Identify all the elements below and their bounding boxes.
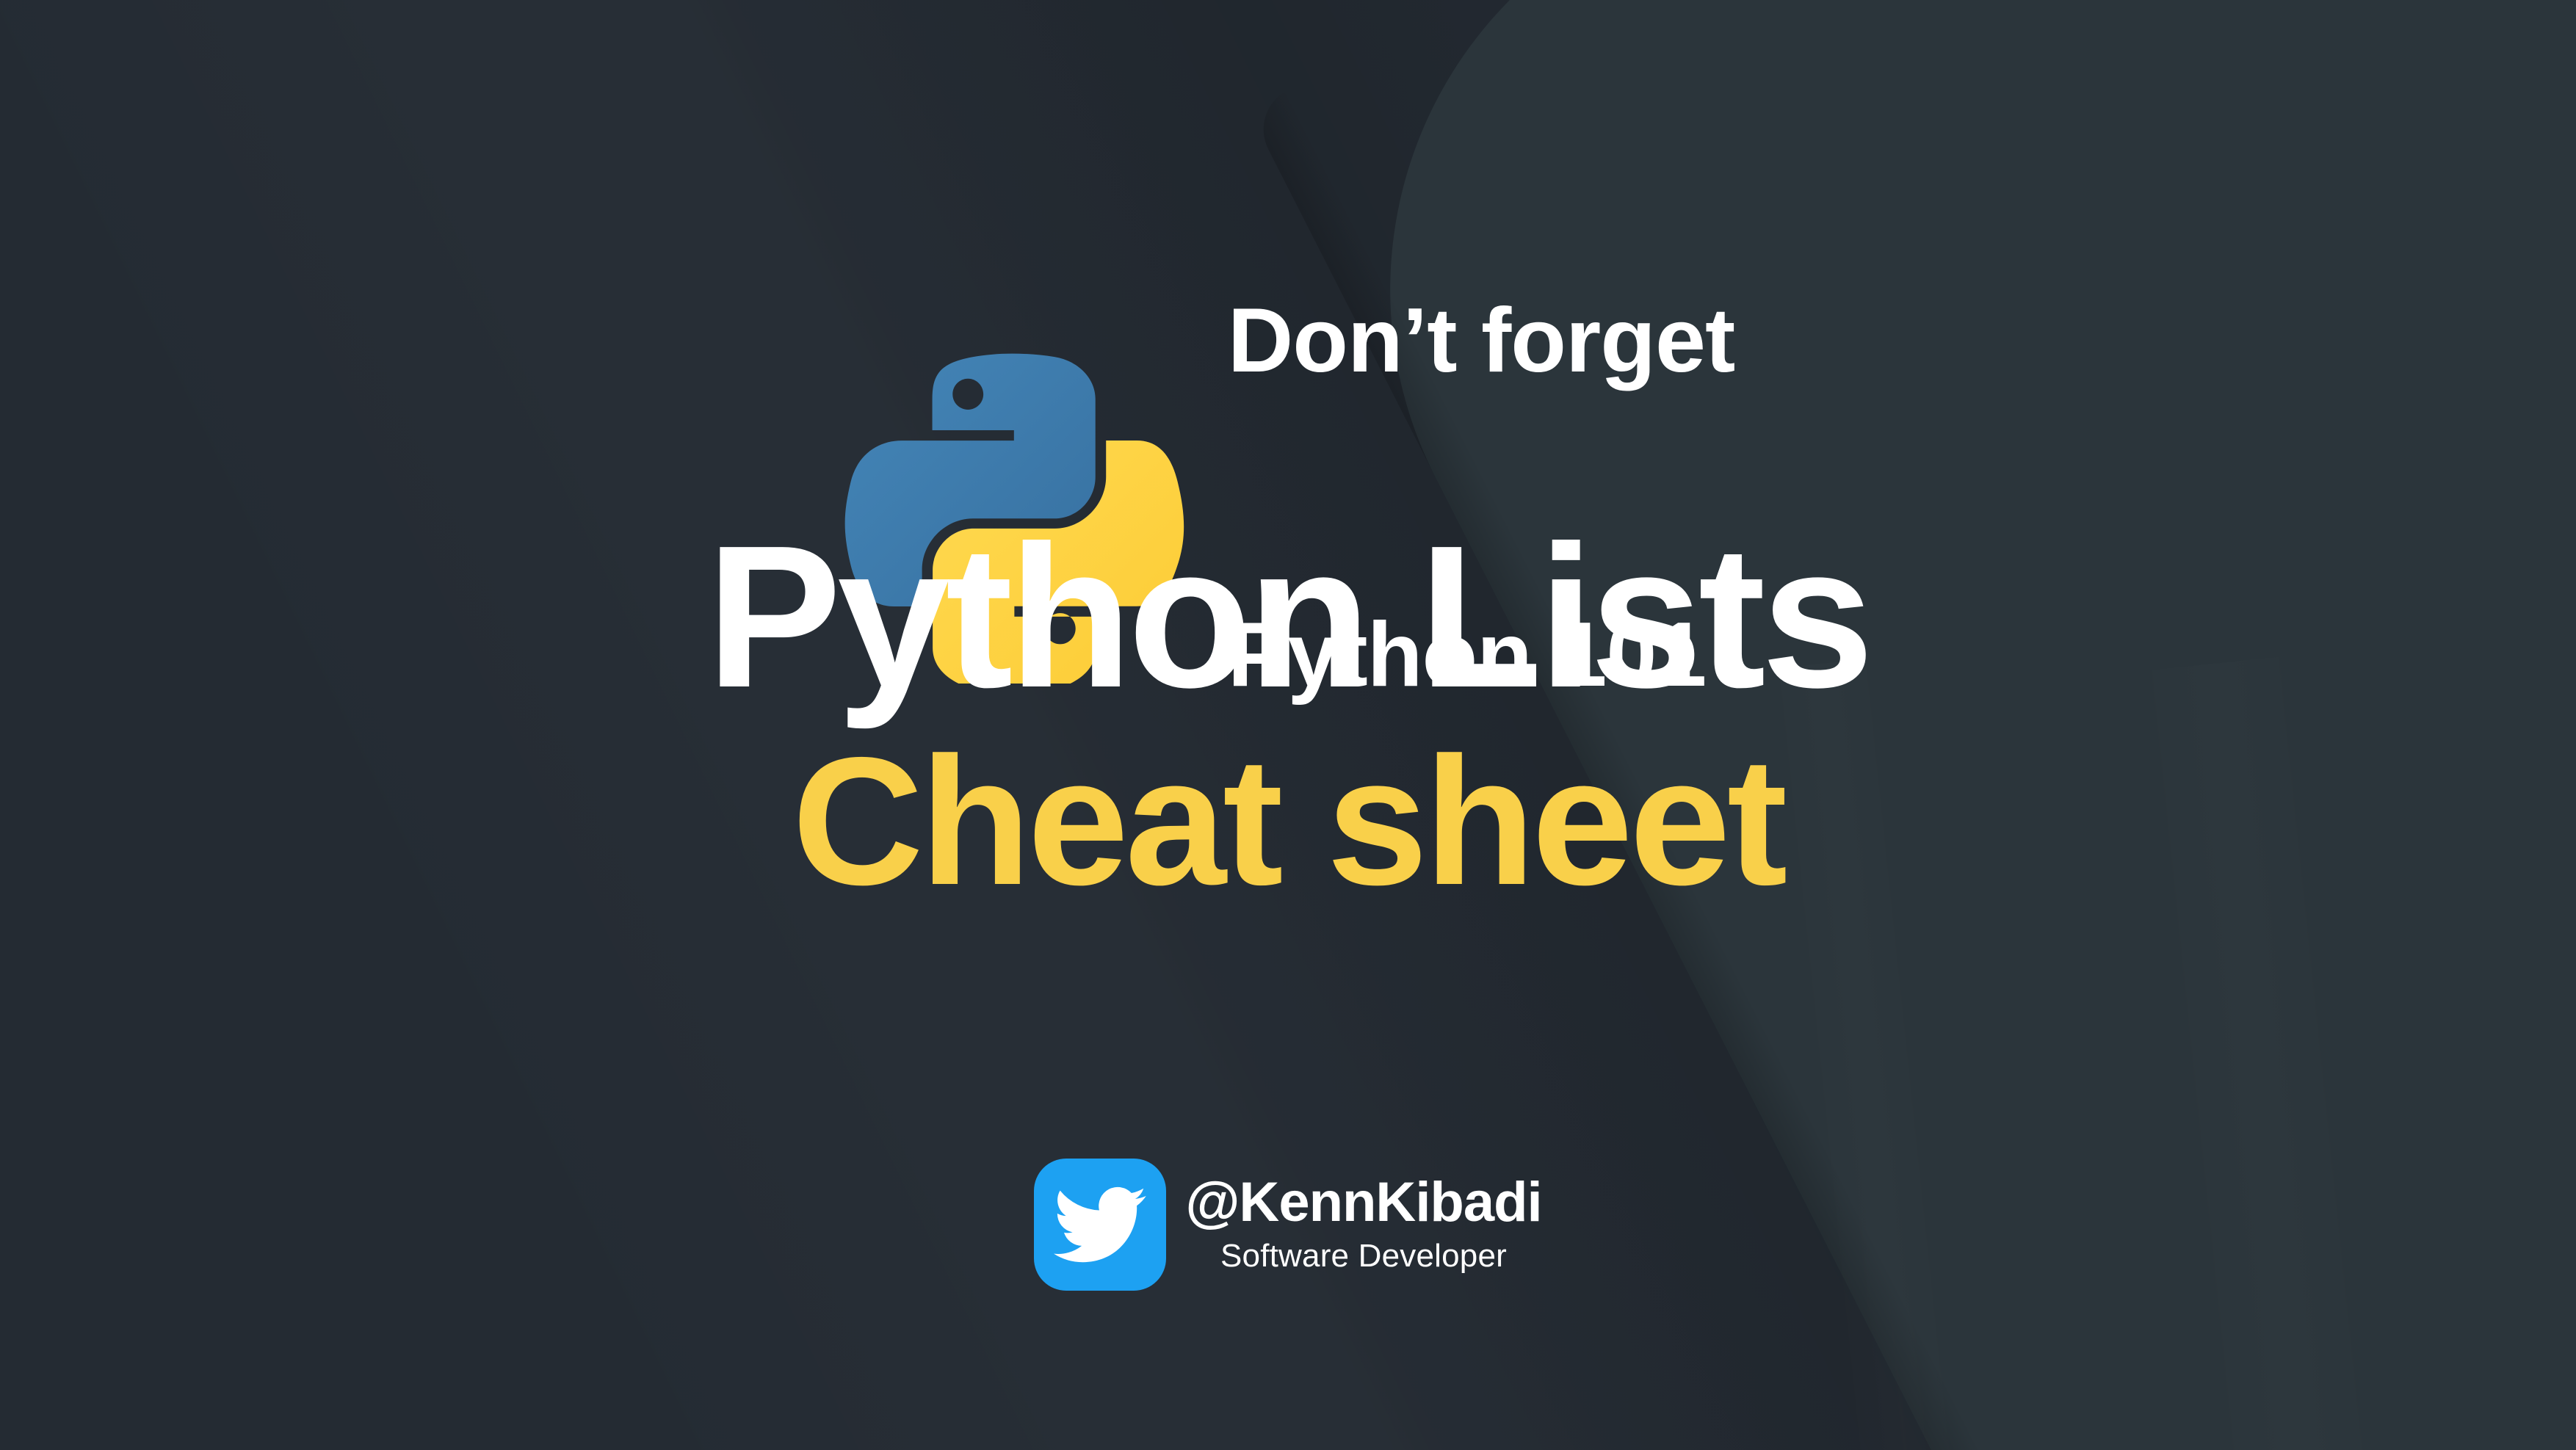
page-subtitle: Cheat sheet xyxy=(0,728,2576,914)
title-block: Python Lists Cheat sheet xyxy=(0,514,2576,913)
author-handle: @KennKibadi xyxy=(1185,1175,1541,1230)
page-title: Python Lists xyxy=(0,514,2576,721)
author-badge[interactable]: @KennKibadi Software Developer xyxy=(0,1159,2576,1291)
author-role: Software Developer xyxy=(1220,1240,1507,1272)
twitter-icon[interactable] xyxy=(1034,1159,1166,1291)
author-text: @KennKibadi Software Developer xyxy=(1185,1175,1541,1275)
cheat-sheet-cover-slide: Don’t forget Python 101 Python Lists Che… xyxy=(0,0,2576,1450)
twitter-bird-icon xyxy=(1054,1178,1146,1271)
kicker-line-1: Don’t forget xyxy=(1228,289,1735,394)
slide-content: Don’t forget Python 101 Python Lists Che… xyxy=(0,0,2576,1450)
